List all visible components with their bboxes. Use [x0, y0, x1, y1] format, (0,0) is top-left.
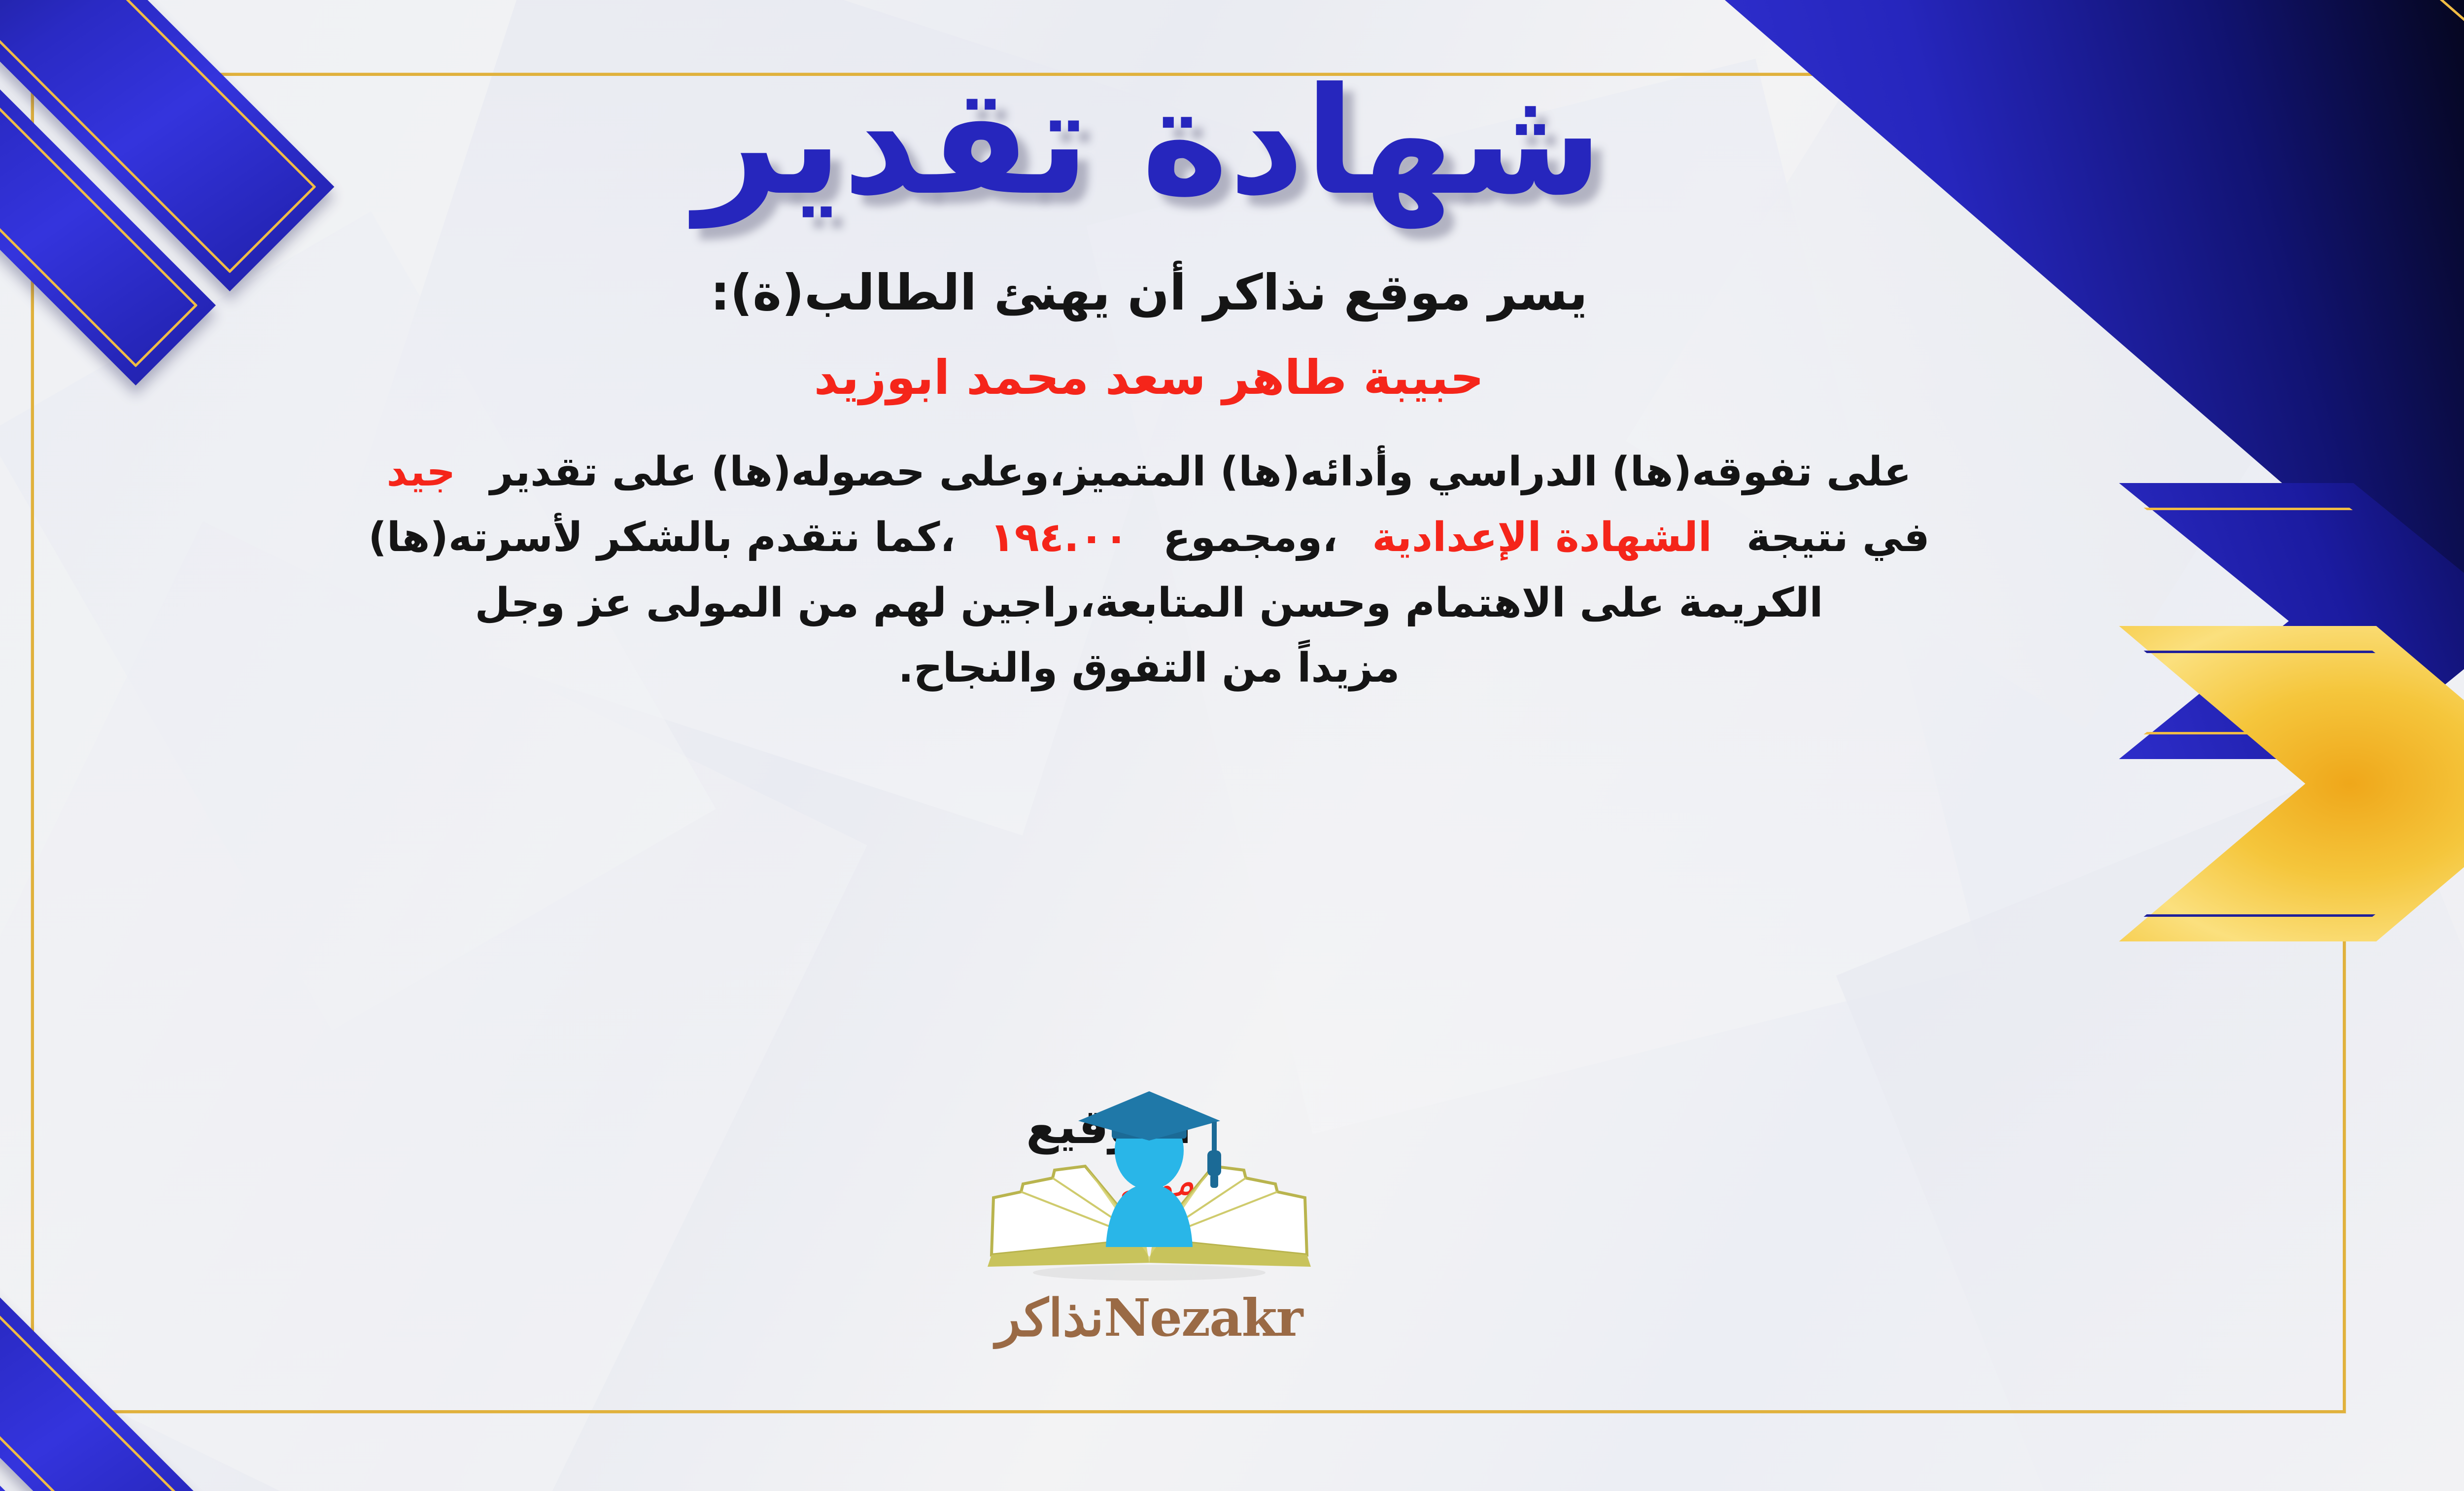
- intro-line: يسر موقع نذاكر أن يهنئ الطالب(ة):: [710, 264, 1587, 321]
- certificate-body: على تفوقه(ها) الدراسي وأدائه(ها) المتميز…: [40, 440, 2258, 701]
- student-name: حبيبة طاهر سعد محمد ابوزيد: [814, 350, 1484, 405]
- body-line-4: مزيداً من التفوق والنجاح.: [100, 636, 2199, 701]
- graduate-book-logo-icon: [962, 1089, 1336, 1296]
- body-line-2-suffix: ،كما نتقدم بالشكر لأسرته(ها): [368, 514, 955, 561]
- certificate-page: شهادة تقدير يسر موقع نذاكر أن يهنئ الطال…: [0, 0, 2464, 1491]
- logo-latin-text: Nezakr: [1104, 1287, 1302, 1348]
- body-line-2-prefix: في نتيجة: [1746, 514, 1930, 561]
- exam-name-value: الشهادة الإعدادية: [1372, 514, 1712, 561]
- certificate-footer: التوقيع موقع نذاكر: [0, 1099, 2464, 1395]
- logo-wordmark: Nezakrنذاكر: [962, 1287, 1336, 1348]
- logo-arabic-text: نذاكر: [996, 1287, 1104, 1348]
- body-line-3: الكريمة على الاهتمام وحسن المتابعة،راجين…: [100, 571, 2199, 636]
- certificate-title: شهادة تقدير: [695, 64, 1603, 219]
- body-line-2-mid: ،ومجموع: [1163, 514, 1337, 561]
- body-line-2: في نتيجةالشهادة الإعدادية،ومجموع١٩٤.٠٠،ك…: [100, 505, 2199, 571]
- total-score-value: ١٩٤.٠٠: [990, 514, 1129, 561]
- body-line-1: على تفوقه(ها) الدراسي وأدائه(ها) المتميز…: [100, 440, 2199, 505]
- nezakr-logo: Nezakrنذاكر: [962, 1089, 1336, 1348]
- grade-value: جيد: [386, 449, 455, 495]
- body-line-1-text: على تفوقه(ها) الدراسي وأدائه(ها) المتميز…: [490, 449, 1911, 495]
